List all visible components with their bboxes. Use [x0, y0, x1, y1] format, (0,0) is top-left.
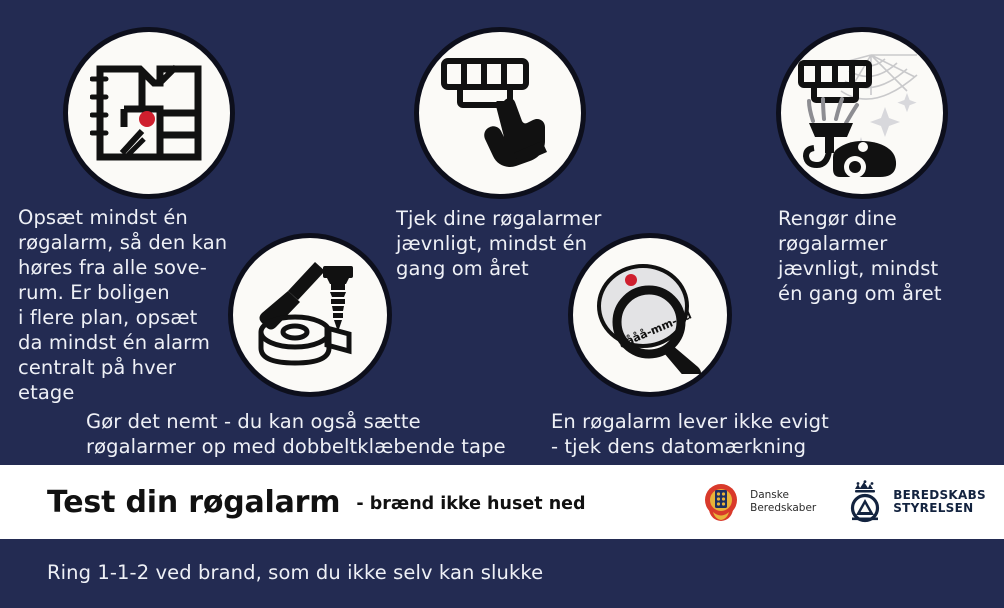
beredskabsstyrelsen-logo: BEREDSKABS STYRELSEN [844, 480, 986, 524]
danske-beredskaber-line2: Beredskaber [750, 502, 816, 514]
headline-group: Test din røgalarm - brænd ikke huset ned [47, 465, 586, 539]
screwdriver-screw-tape-icon [249, 256, 371, 374]
caption-placement: Opsæt mindst én røgalarm, så den kan hør… [18, 206, 233, 406]
danske-beredskaber-crest-icon [699, 480, 743, 524]
logo-group: Danske Beredskaber BEREDS [699, 465, 986, 539]
danske-beredskaber-line1: Danske [750, 489, 789, 501]
beredskabsstyrelsen-label: BEREDSKABS STYRELSEN [893, 489, 986, 516]
emergency-number-text: Ring 1-1-2 ved brand, som du ikke selv k… [47, 561, 543, 584]
icon-circle-clean-alarm [776, 27, 948, 199]
icon-circle-mounting-tools [228, 233, 392, 397]
page-subtitle: - brænd ikke huset ned [356, 494, 585, 514]
icon-circle-test-alarm [414, 27, 586, 199]
beredskabsstyrelsen-emblem-icon [844, 480, 886, 524]
footer-bar: Ring 1-1-2 ved brand, som du ikke selv k… [0, 539, 1004, 608]
caption-mounting: Gør det nemt - du kan også sætte røgalar… [86, 410, 556, 460]
caption-test: Tjek dine røgalarmer jævnligt, mindst én… [396, 207, 631, 282]
beredskabsstyrelsen-line1: BEREDSKABS [893, 488, 986, 502]
infographic-poster: åååå-mm-dd Opsæt mindst én røgalarm, så … [0, 0, 1004, 608]
floor-plan-icon [90, 57, 208, 169]
vacuum-cleaning-icon [795, 49, 929, 177]
icon-circle-floor-plan [63, 27, 235, 199]
beredskabsstyrelsen-line2: STYRELSEN [893, 501, 973, 515]
smoke-alarm-hand-icon [438, 53, 562, 173]
title-banner: Test din røgalarm - brænd ikke huset ned [0, 465, 1004, 539]
caption-expiry: En røgalarm lever ikke evigt - tjek dens… [551, 410, 891, 460]
caption-clean: Rengør dine røgalarmer jævnligt, mindst … [778, 207, 998, 307]
danske-beredskaber-label: Danske Beredskaber [750, 489, 816, 514]
page-title: Test din røgalarm [47, 485, 340, 520]
danske-beredskaber-logo: Danske Beredskaber [699, 480, 816, 524]
alarm-location-dot [139, 111, 155, 127]
